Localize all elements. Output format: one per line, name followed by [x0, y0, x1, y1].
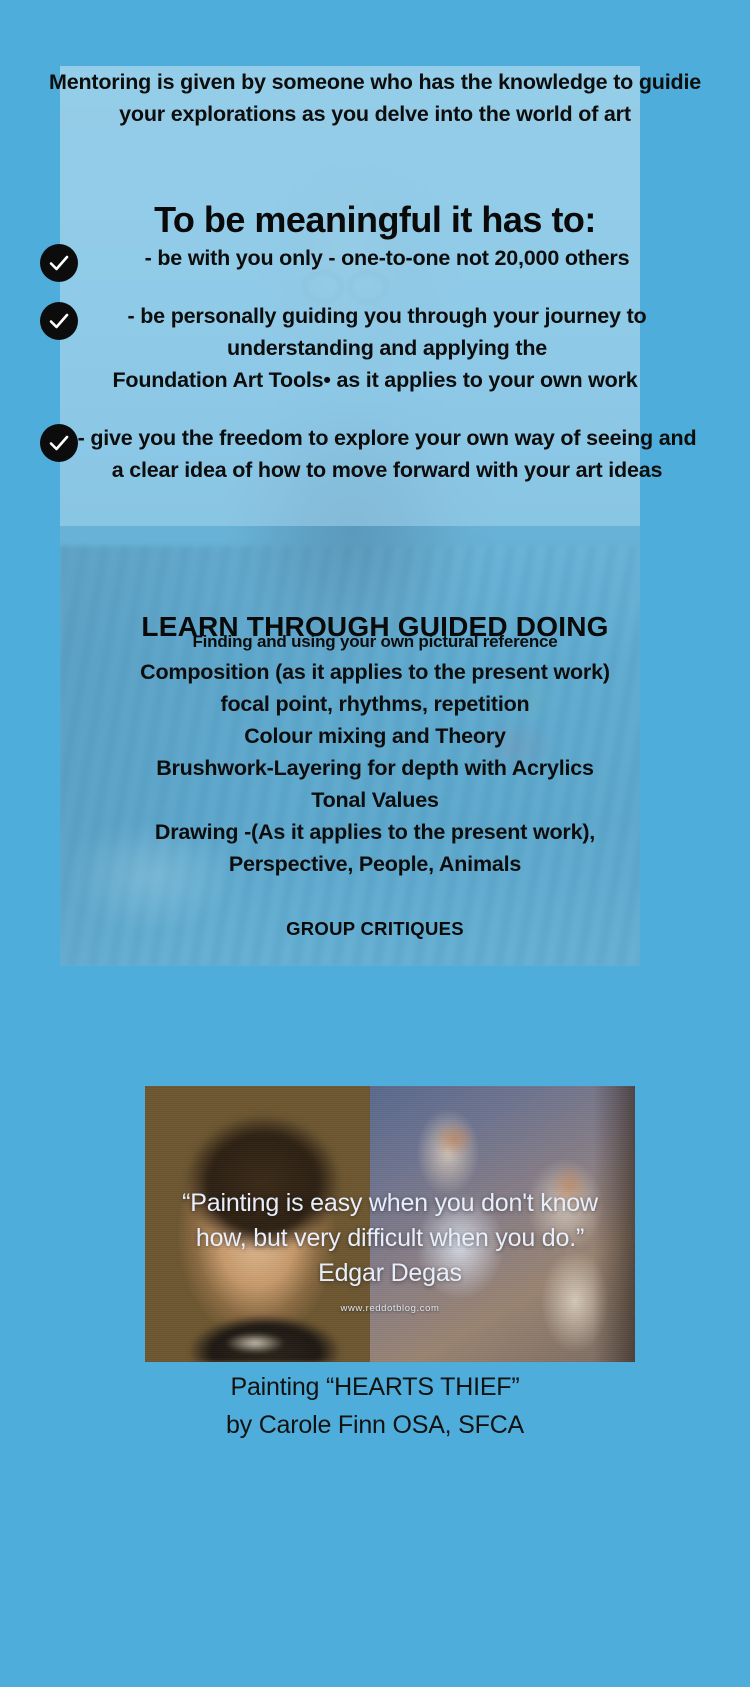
curriculum-list: Finding and using your own pictural refe…: [40, 628, 710, 880]
degas-quote-figure: “Painting is easy when you don't know ho…: [145, 1086, 635, 1362]
degas-quote-body: “Painting is easy when you don't know ho…: [182, 1189, 598, 1252]
curriculum-item: Brushwork-Layering for depth with Acryli…: [40, 752, 710, 784]
curriculum-item: Finding and using your own pictural refe…: [40, 628, 710, 656]
mentoring-panel: Mentoring is given by someone who has th…: [0, 0, 750, 1000]
list-item-continuation: Foundation Art Tools• as it applies to y…: [0, 364, 750, 396]
watermark-url: www.reddotblog.com: [145, 1303, 635, 1314]
curriculum-item: Colour mixing and Theory: [40, 720, 710, 752]
curriculum-item: focal point, rhythms, repetition: [40, 688, 710, 720]
check-icon: [40, 424, 78, 462]
curriculum-item: Composition (as it applies to the presen…: [40, 656, 710, 688]
degas-quote-text: “Painting is easy when you don't know ho…: [171, 1186, 609, 1291]
list-item-label: - be with you only - one-to-one not 20,0…: [0, 242, 750, 274]
painting-caption-artist: by Carole Finn OSA, SFCA: [40, 1406, 710, 1444]
curriculum-item: Perspective, People, Animals: [40, 848, 710, 880]
painting-caption: Painting “HEARTS THIEF” by Carole Finn O…: [40, 1368, 710, 1444]
list-item: - give you the freedom to explore your o…: [0, 422, 750, 486]
curriculum-item: Tonal Values: [40, 784, 710, 816]
list-item-label: - be personally guiding you through your…: [0, 300, 750, 364]
group-critiques-label: GROUP CRITIQUES: [40, 918, 710, 940]
list-item: - be with you only - one-to-one not 20,0…: [0, 242, 750, 274]
page-title: To be meaningful it has to:: [40, 199, 710, 241]
list-item-label: - give you the freedom to explore your o…: [0, 422, 750, 486]
degas-quote-image: “Painting is easy when you don't know ho…: [145, 1086, 635, 1362]
painting-caption-title: Painting “HEARTS THIEF”: [40, 1368, 710, 1406]
check-icon: [40, 244, 78, 282]
check-icon: [40, 302, 78, 340]
intro-paragraph: Mentoring is given by someone who has th…: [40, 66, 710, 130]
requirements-list: - be with you only - one-to-one not 20,0…: [0, 242, 750, 500]
curriculum-item: Drawing -(As it applies to the present w…: [40, 816, 710, 848]
list-item: - be personally guiding you through your…: [0, 300, 750, 396]
degas-attribution: Edgar Degas: [171, 1256, 609, 1291]
